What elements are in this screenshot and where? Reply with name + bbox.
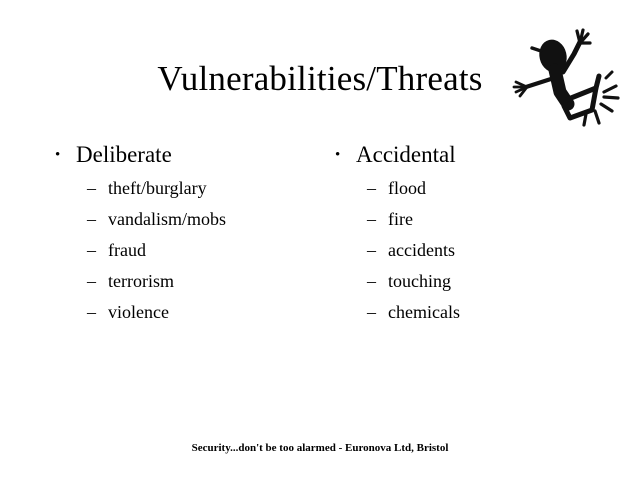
list-item: – theft/burglary [48, 173, 338, 204]
column-accidental: • Accidental – flood – fire – accidents … [328, 140, 618, 328]
bullet-heading-accidental: • Accidental [328, 140, 618, 170]
list-item: – chemicals [328, 297, 618, 328]
bullet-heading-deliberate: • Deliberate [48, 140, 338, 170]
list-item-label: touching [388, 271, 451, 291]
list-item-label: violence [108, 302, 169, 322]
list-item-label: accidents [388, 240, 455, 260]
list-item: – fraud [48, 235, 338, 266]
list-item-label: theft/burglary [108, 178, 207, 198]
list-item: – touching [328, 266, 618, 297]
dash-icon: – [367, 173, 376, 204]
dash-icon: – [87, 266, 96, 297]
list-item-label: flood [388, 178, 426, 198]
content-columns: • Deliberate – theft/burglary – vandalis… [0, 140, 640, 350]
list-item: – terrorism [48, 266, 338, 297]
list-item-label: fire [388, 209, 413, 229]
list-item: – vandalism/mobs [48, 204, 338, 235]
bullet-dot-icon: • [335, 140, 340, 170]
list-item: – violence [48, 297, 338, 328]
list-item-label: chemicals [388, 302, 460, 322]
list-item-label: fraud [108, 240, 146, 260]
list-item: – fire [328, 204, 618, 235]
dash-icon: – [87, 173, 96, 204]
dash-icon: – [87, 204, 96, 235]
dash-icon: – [87, 297, 96, 328]
dash-icon: – [367, 204, 376, 235]
dash-icon: – [367, 266, 376, 297]
slide-footer: Security...don't be too alarmed - Eurono… [0, 441, 640, 455]
dash-icon: – [367, 297, 376, 328]
falling-person-clipart [500, 18, 635, 130]
bullet-heading-label: Deliberate [76, 142, 172, 167]
bullet-dot-icon: • [55, 140, 60, 170]
list-item: – accidents [328, 235, 618, 266]
list-item-label: vandalism/mobs [108, 209, 226, 229]
list-item: – flood [328, 173, 618, 204]
bullet-heading-label: Accidental [356, 142, 456, 167]
column-deliberate: • Deliberate – theft/burglary – vandalis… [48, 140, 338, 328]
dash-icon: – [87, 235, 96, 266]
sublist-deliberate: – theft/burglary – vandalism/mobs – frau… [48, 173, 338, 328]
list-item-label: terrorism [108, 271, 174, 291]
dash-icon: – [367, 235, 376, 266]
sublist-accidental: – flood – fire – accidents – touching – [328, 173, 618, 328]
slide: Vulnerabilities/Threats [0, 0, 640, 480]
